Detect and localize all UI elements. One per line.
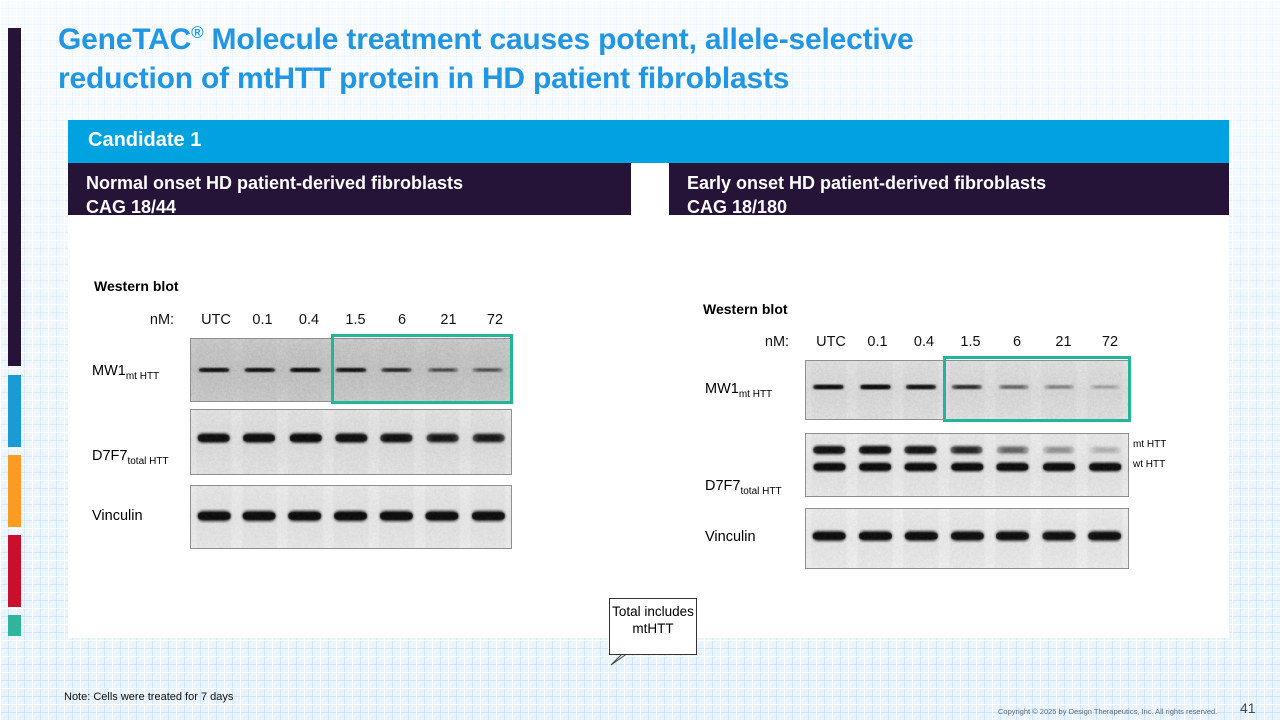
- brand-color-rail: [8, 28, 21, 636]
- panel-header-right-line1: Early onset HD patient-derived fibroblas…: [687, 171, 1229, 195]
- registered-trademark-icon: ®: [191, 23, 203, 42]
- band-annotation-wt-htt: wt HTT: [1133, 459, 1165, 470]
- lane-label-right-1: 0.1: [858, 334, 898, 350]
- content-card: Candidate 1 Normal onset HD patient-deri…: [68, 120, 1229, 638]
- page-number: 41: [1240, 700, 1256, 716]
- lane-label-left-4: 6: [382, 312, 422, 328]
- lane-label-right-6: 72: [1090, 334, 1130, 350]
- band-annotation-mt-htt: mt HTT: [1133, 439, 1166, 450]
- rail-segment-blue: [8, 375, 21, 447]
- panel-header-right: Early onset HD patient-derived fibroblas…: [669, 163, 1229, 215]
- rail-segment-crimson: [8, 535, 21, 607]
- dose-unit-label-left: nM:: [142, 312, 182, 328]
- blot-label-left-d7f7: D7F7total HTT: [92, 448, 169, 467]
- lane-label-left-2: 0.4: [289, 312, 329, 328]
- title-line1-post: Molecule treatment causes potent, allele…: [203, 23, 913, 56]
- panel-header-left: Normal onset HD patient-derived fibrobla…: [68, 163, 631, 215]
- western-blot-title-left: Western blot: [94, 278, 179, 294]
- title-line2: reduction of mtHTT protein in HD patient…: [58, 62, 789, 95]
- blot-target-left-mw1: mt HTT: [126, 371, 159, 382]
- lane-label-right-2: 0.4: [904, 334, 944, 350]
- blot-canvas-right-vinculin: [806, 509, 1128, 568]
- blot-canvas-right-d7f7: [806, 434, 1128, 496]
- blot-image-right-mw1: [805, 360, 1129, 420]
- panel-header-left-line1: Normal onset HD patient-derived fibrobla…: [86, 171, 631, 195]
- lane-label-left-0: UTC: [196, 312, 236, 328]
- candidate-label: Candidate 1: [88, 129, 201, 152]
- rail-segment-purple: [8, 28, 21, 366]
- blot-antibody-right-mw1: MW1: [705, 381, 739, 397]
- lane-label-left-5: 21: [429, 312, 469, 328]
- blot-image-left-d7f7: [190, 409, 512, 475]
- lane-label-left-6: 72: [475, 312, 515, 328]
- blot-canvas-left-vinculin: [191, 486, 511, 548]
- lane-label-right-0: UTC: [811, 334, 851, 350]
- blot-label-right-vinculin: Vinculin: [705, 529, 756, 545]
- blot-target-right-d7f7: total HTT: [740, 486, 781, 497]
- blot-canvas-left-d7f7: [191, 410, 511, 474]
- panel-body-left: Western blot nM: UTC0.10.41.562172 MW1mt…: [68, 215, 668, 638]
- rail-segment-orange: [8, 455, 21, 527]
- blot-antibody-right-d7f7: D7F7: [705, 478, 740, 494]
- rail-segment-teal: [8, 615, 21, 636]
- blot-label-left-mw1: MW1mt HTT: [92, 363, 159, 382]
- blot-target-left-d7f7: total HTT: [127, 456, 168, 467]
- lane-label-right-5: 21: [1044, 334, 1084, 350]
- blot-canvas-right-mw1: [806, 361, 1128, 419]
- blot-antibody-left-d7f7: D7F7: [92, 448, 127, 464]
- blot-image-left-mw1: [190, 338, 512, 402]
- copyright-notice: Copyright © 2025 by Design Therapeutics,…: [998, 707, 1217, 716]
- blot-canvas-left-mw1: [191, 339, 511, 401]
- title-line1-pre: GeneTAC: [58, 23, 191, 56]
- blot-image-right-d7f7: [805, 433, 1129, 497]
- blot-label-left-vinculin: Vinculin: [92, 508, 143, 524]
- blot-antibody-left-mw1: MW1: [92, 363, 126, 379]
- dose-unit-label-right: nM:: [757, 334, 797, 350]
- panel-body-right: Western blot nM: UTC0.10.41.562172 MW1mt…: [669, 215, 1229, 638]
- blot-label-right-mw1: MW1mt HTT: [705, 381, 772, 400]
- lane-label-right-3: 1.5: [951, 334, 991, 350]
- western-blot-title-right: Western blot: [703, 301, 788, 317]
- footnote: Note: Cells were treated for 7 days: [64, 691, 233, 703]
- blot-image-right-vinculin: [805, 508, 1129, 569]
- lane-label-left-1: 0.1: [243, 312, 283, 328]
- slide-title: GeneTAC® Molecule treatment causes poten…: [58, 20, 1088, 98]
- blot-image-left-vinculin: [190, 485, 512, 549]
- blot-label-right-d7f7: D7F7total HTT: [705, 478, 782, 497]
- lane-header-row-left: nM: UTC0.10.41.562172: [68, 312, 668, 330]
- candidate-banner: Candidate 1: [68, 120, 1229, 163]
- lane-header-row-right: nM: UTC0.10.41.562172: [669, 334, 1229, 352]
- lane-label-right-4: 6: [997, 334, 1037, 350]
- lane-label-left-3: 1.5: [336, 312, 376, 328]
- blot-target-right-mw1: mt HTT: [739, 389, 772, 400]
